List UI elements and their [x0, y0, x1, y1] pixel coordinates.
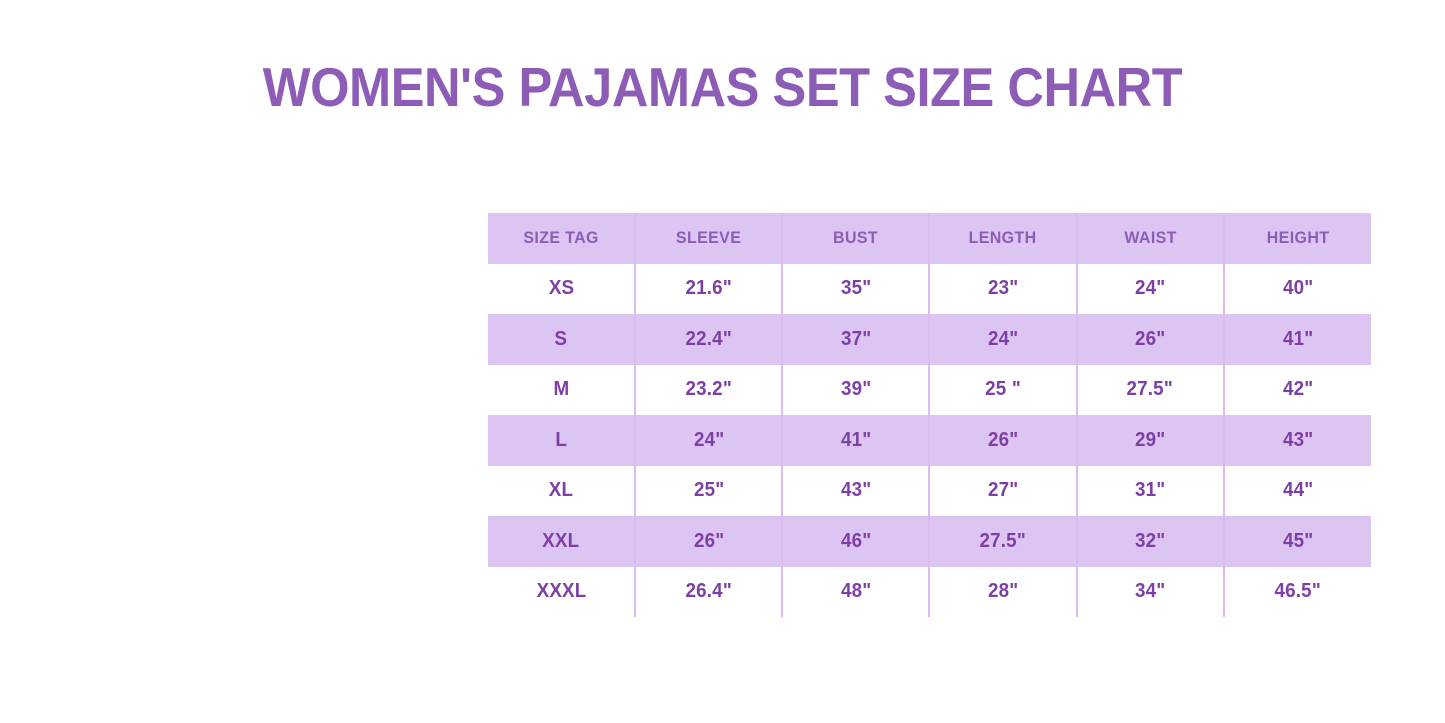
- cell-size-tag: S: [488, 314, 635, 365]
- column-header-sleeve: SLEEVE: [640, 213, 778, 264]
- cell-measurement: 26": [635, 516, 782, 567]
- cell-measurement: 25 ": [929, 365, 1076, 416]
- column-header-bust: BUST: [787, 213, 925, 264]
- cell-measurement: 25": [635, 466, 782, 517]
- column-header-waist: WAIST: [1081, 213, 1219, 264]
- cell-measurement: 46.5": [1224, 567, 1371, 618]
- cell-size-tag: L: [488, 415, 635, 466]
- cell-measurement: 34": [1077, 567, 1224, 618]
- column-header-height: HEIGHT: [1228, 213, 1366, 264]
- table-row: S22.4"37"24"26"41": [488, 314, 1371, 365]
- cell-measurement: 45": [1224, 516, 1371, 567]
- cell-measurement: 24": [929, 314, 1076, 365]
- cell-measurement: 27": [929, 466, 1076, 517]
- cell-measurement: 27.5": [929, 516, 1076, 567]
- cell-measurement: 41": [1224, 314, 1371, 365]
- cell-measurement: 27.5": [1077, 365, 1224, 416]
- cell-measurement: 26": [929, 415, 1076, 466]
- cell-measurement: 23.2": [635, 365, 782, 416]
- cell-measurement: 40": [1224, 264, 1371, 315]
- cell-measurement: 39": [782, 365, 929, 416]
- cell-measurement: 29": [1077, 415, 1224, 466]
- table-row: XS21.6"35"23"24"40": [488, 264, 1371, 315]
- cell-measurement: 26.4": [635, 567, 782, 618]
- cell-measurement: 24": [635, 415, 782, 466]
- cell-measurement: 26": [1077, 314, 1224, 365]
- cell-measurement: 35": [782, 264, 929, 315]
- cell-measurement: 28": [929, 567, 1076, 618]
- cell-size-tag: XS: [488, 264, 635, 315]
- cell-measurement: 31": [1077, 466, 1224, 517]
- size-chart-table: SIZE TAG SLEEVE BUST LENGTH WAIST HEIGHT…: [488, 213, 1371, 617]
- cell-measurement: 42": [1224, 365, 1371, 416]
- table-header: SIZE TAG SLEEVE BUST LENGTH WAIST HEIGHT: [488, 213, 1371, 264]
- cell-measurement: 23": [929, 264, 1076, 315]
- cell-measurement: 44": [1224, 466, 1371, 517]
- cell-measurement: 22.4": [635, 314, 782, 365]
- table-row: XL25"43"27"31"44": [488, 466, 1371, 517]
- size-chart-page: WOMEN'S PAJAMAS SET SIZE CHART SIZE TAG …: [0, 0, 1445, 723]
- cell-measurement: 48": [782, 567, 929, 618]
- cell-size-tag: M: [488, 365, 635, 416]
- cell-measurement: 43": [782, 466, 929, 517]
- cell-measurement: 21.6": [635, 264, 782, 315]
- cell-measurement: 32": [1077, 516, 1224, 567]
- cell-size-tag: XXL: [488, 516, 635, 567]
- column-header-length: LENGTH: [934, 213, 1072, 264]
- cell-size-tag: XXXL: [488, 567, 635, 618]
- table-header-row: SIZE TAG SLEEVE BUST LENGTH WAIST HEIGHT: [488, 213, 1371, 264]
- page-title: WOMEN'S PAJAMAS SET SIZE CHART: [58, 56, 1387, 118]
- table-row: M23.2"39"25 "27.5"42": [488, 365, 1371, 416]
- cell-measurement: 41": [782, 415, 929, 466]
- cell-measurement: 43": [1224, 415, 1371, 466]
- table-row: XXXL26.4"48"28"34"46.5": [488, 567, 1371, 618]
- cell-measurement: 24": [1077, 264, 1224, 315]
- column-header-size-tag: SIZE TAG: [492, 213, 630, 264]
- cell-size-tag: XL: [488, 466, 635, 517]
- table-body: XS21.6"35"23"24"40"S22.4"37"24"26"41"M23…: [488, 264, 1371, 618]
- size-chart-table-container: SIZE TAG SLEEVE BUST LENGTH WAIST HEIGHT…: [488, 213, 1371, 617]
- table-row: L24"41"26"29"43": [488, 415, 1371, 466]
- cell-measurement: 46": [782, 516, 929, 567]
- cell-measurement: 37": [782, 314, 929, 365]
- table-row: XXL26"46"27.5"32"45": [488, 516, 1371, 567]
